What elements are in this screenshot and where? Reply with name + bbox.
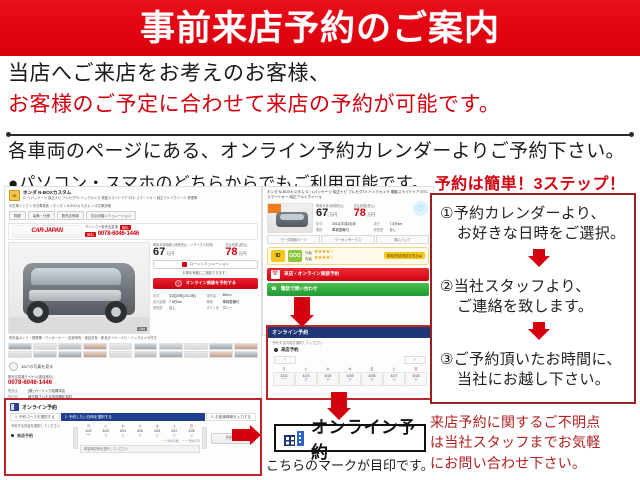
sp-spec-key-3: 修復歴 (374, 227, 388, 232)
calendar-icon: 📅 (271, 270, 280, 279)
spec-key-1: 排気量 (207, 293, 221, 298)
video-camera-icon (175, 280, 182, 287)
step-3-line-2: 当社にお越し下さい。 (457, 370, 622, 390)
car-window-shape (31, 268, 121, 285)
sp2-day-cell-1[interactable]: 4/23 ○ (295, 372, 317, 386)
cal-slot-4[interactable]: ○ (149, 434, 166, 439)
pc-contact-tel[interactable]: 0078-6046-1446 (8, 380, 258, 386)
pc-tel-label: ダイレクト販売店直通 (85, 225, 118, 230)
sp-tab-0[interactable]: データ詳細/パーツ (267, 235, 320, 244)
sp2-mark-6: ○ (406, 378, 426, 384)
sp2-mark-2: ○ (318, 378, 338, 384)
sp2-day-cell-5[interactable]: 4/27 ○ (383, 372, 405, 386)
spec-val-1: 660cc (223, 293, 259, 298)
pc-tel-free-badge: 無料 (85, 232, 96, 237)
step-2-line-2: ご連絡を致します。 (457, 297, 593, 317)
sp-visit-online-reserve-label: 来店・オンライン商談予約 (284, 271, 339, 277)
thumbnail[interactable] (83, 351, 107, 358)
header-banner: 事前来店予約のご案内 (0, 0, 640, 56)
arrow-head (528, 329, 550, 340)
arrow-right-to-mark (232, 425, 261, 445)
dealer-logo: CAR-JAPAN (12, 225, 82, 238)
cal-dow-2: 水 (114, 424, 131, 428)
step-arrow-2 (528, 322, 550, 340)
wizard-step-strip: 1. 予約コースを選択する 2. 予約したい日時を選択する 3. お客様情報を入… (10, 413, 256, 421)
thumbnail[interactable] (209, 343, 233, 350)
arrow-head (528, 256, 550, 267)
cal-dow-0: 月 (80, 424, 97, 428)
sp-price-total-unit: 万円 (367, 212, 375, 217)
car-grille-shape (29, 290, 121, 301)
cal-slot-0[interactable]: ー (80, 434, 97, 439)
sp-car-window-shape (280, 214, 304, 220)
step-1: ①予約カレンダーより、 お好きな日時をご選択。 (440, 204, 625, 245)
rate-in-stars: ★★★★☆ (314, 256, 334, 261)
sp-tab-1[interactable]: クーポン/サービス (321, 235, 374, 244)
arrow-stem (331, 392, 347, 408)
spec-val-2: 7.8万km (169, 299, 205, 304)
sp2-mark-0: ー (274, 378, 294, 384)
step-3-line-1: ③ご予約頂いたお時間に、 (440, 351, 622, 368)
divider-dot-right (629, 132, 634, 137)
sp-spec-key-0: 年式 (316, 221, 330, 226)
sp-car-photo[interactable] (267, 203, 313, 233)
thumbnail[interactable] (58, 351, 82, 358)
pc-detail-body: 1/36 車両本体価格 (消費税込・リサイクル料別) 67万円 支払総額 (税込… (5, 240, 261, 334)
step-1-line-2: お好きな日時をご選択。 (457, 224, 625, 244)
pc-price-vehicle-value: 67万円 (153, 247, 213, 258)
spec-val-5: グレー (223, 305, 259, 310)
pc-price-total-number: 78 (225, 246, 237, 258)
intro-line-1: 当店へご来店をお考えのお客様、 (8, 60, 632, 88)
pc-tab-1[interactable]: 装備・仕様 (28, 211, 55, 220)
sp-price-total-number: 78 (354, 207, 366, 219)
sp-rating-box: ID GOO 外装 ★★★★☆ 内装 ★★★★☆ 車両状態評価書を見る ▶ (267, 247, 429, 265)
cal-slot-5[interactable]: ○ (166, 434, 183, 439)
pc-photo-caption: 内外装キレイ・禁煙車・ワンオーナー・記録簿有・保証書有・新品タイヤ・ナビ・バック… (5, 334, 261, 341)
page-title: 事前来店予約のご案内 (140, 11, 500, 46)
step-3: ③ご予約頂いたお時間に、 当社にお越し下さい。 (440, 350, 622, 391)
cal-dow-3: 木 (131, 424, 148, 428)
wizard-body: 予約する内容を選択してください 来店予約 月 火 水 木 金 土 (6, 421, 260, 456)
thumbnail[interactable] (109, 343, 133, 350)
thumbnail[interactable] (209, 351, 233, 358)
sp2-dow-6: 日 (405, 366, 427, 371)
page-root: 事前来店予約のご案内 当店へご来店をお考えのお客様、 お客様のご予定に合わせて来… (0, 0, 640, 480)
sp-screenshot-car-detail: ホンダ N-BOXカスタム G・Lパッケージ 純正ナビ フルセグTV バックカメ… (262, 186, 434, 336)
sp2-calendar-nav[interactable]: ‹ › (268, 356, 432, 364)
arrow-head (290, 315, 314, 327)
loan-simulation-label: ローンシミュレーション (190, 262, 229, 267)
radio-dot-icon (274, 348, 278, 352)
sp-price-vehicle-number: 67 (316, 207, 328, 219)
wizard-calendar: 月 火 水 木 金 土 日 4/22 4/23 4/24 4/25 4/26 4… (73, 424, 207, 453)
sp2-mark-1: ○ (296, 378, 316, 384)
car-wheel-front (27, 301, 49, 323)
thumbnail[interactable] (33, 351, 57, 358)
pc-breadcrumb: 中古車トップ > 中古車検索 > ホンダ > N-BOXカスタム > 中古車詳細 (5, 203, 261, 210)
pc-screenshot-car-detail: ID ホンダ N-BOXカスタム G・Lパッケージ 純正ナビ フルセグTV バッ… (4, 186, 262, 404)
pc-thumbnail-strip[interactable] (5, 341, 261, 361)
intro-line-3: 各車両のページにある、オンライン予約カレンダーよりご予約下さい。 (8, 140, 632, 165)
sp2-day-cell-0[interactable]: 4/22 ー (273, 372, 295, 386)
sp-detail-body: ホンダ N-BOXカスタム G・Lパッケージ 純正ナビ フルセグTV バックカメ… (263, 187, 433, 299)
wizard-radio-dot[interactable] (11, 434, 14, 437)
contact-key-0: 販売店 (8, 388, 26, 393)
phone-icon: ☎ (271, 286, 277, 292)
pc-price-vehicle-number: 67 (153, 246, 165, 258)
steps-tagline: 予約は簡単！3ステップ！ (435, 170, 626, 194)
loan-simulation-button[interactable]: ローンシミュレーション (153, 260, 258, 269)
pc-price-column: 車両本体価格 (消費税込・リサイクル料別) 67万円 支払総額 (税込) 78万… (153, 242, 258, 334)
sp2-mark-4: ○ (362, 378, 382, 384)
sp2-day-cell-4[interactable]: 4/26 ○ (361, 372, 383, 386)
favorite-heart-icon[interactable]: ♡ (413, 201, 428, 216)
spec-key-0: 年式 (153, 293, 167, 298)
step-2: ②当社スタッフより、 ご連絡を致します。 (440, 277, 593, 318)
wizard-course-column: 予約する内容を選択してください 来店予約 (11, 424, 69, 453)
sp-price-vehicle-unit: 万円 (329, 212, 337, 217)
online-consult-label: オンライン商談を予約する (186, 280, 236, 286)
sp-spec-val-2: 車検整備付 (332, 227, 372, 232)
sp2-prev-button[interactable]: ‹ (274, 356, 296, 364)
intro-block: 当店へご来店をお考えのお客様、 お客様のご予定に合わせて来店の予約が可能です。 (8, 60, 632, 120)
closing-line-1: 来店予約に関するご不明点 (430, 412, 640, 432)
time-slot-select[interactable]: 希望時間帯を選択してください (80, 445, 200, 453)
pc-screenshot-reservation-wizard: オンライン予約 1. 予約コースを選択する 2. 予約したい日時を選択する 3.… (4, 398, 262, 476)
sp2-dow-2: 水 (317, 366, 339, 371)
sp-price-vehicle-value: 67万円 (316, 208, 344, 219)
thumbnail[interactable] (134, 343, 158, 350)
step-1-line-1: ①予約カレンダーより、 (440, 205, 606, 222)
closing-line-2: は当社スタッフまでお気軽 (430, 432, 640, 452)
step-arrow-1 (528, 249, 550, 267)
sp2-day-cell-2[interactable]: 4/24 ○ (317, 372, 339, 386)
sp-listing-title: ホンダ N-BOXカスタム G・Lパッケージ 純正ナビ フルセグTV バックカメ… (267, 190, 429, 201)
wizard-step-1[interactable]: 1. 予約コースを選択する (10, 413, 60, 421)
wizard-radio-label: 来店予約 (17, 433, 33, 439)
pc-price-vehicle-unit: 万円 (166, 251, 174, 256)
pc-listing-subtitle: G・Lパッケージ 純正ナビ フルセグTV バックカメラ 電動スライドドア ETC… (23, 196, 197, 201)
pc-tab-2[interactable]: 販売店情報 (57, 211, 84, 220)
wizard-step-2[interactable]: 2. 予約したい日時を選択する (61, 413, 205, 421)
sp2-radio-label: 来店予約 (281, 347, 299, 353)
sp2-dow-4: 金 (361, 366, 383, 371)
closing-line-3: にお問い合わせ下さい。 (430, 453, 640, 473)
thumbnail[interactable] (159, 343, 183, 350)
sp-price-total: 支払総額(税込) 78万円 (354, 203, 375, 219)
cal-dow-6: 日 (183, 424, 200, 428)
arrow-stem (533, 322, 545, 329)
cal-dow-4: 金 (149, 424, 166, 428)
sp2-course-radio[interactable]: 来店予約 (268, 346, 432, 356)
goo-badge-icon: GOO (288, 250, 302, 262)
cal-slot-1[interactable]: ○ (97, 434, 114, 439)
thumbnail[interactable] (8, 343, 32, 350)
sp-tab-strip[interactable]: データ詳細/パーツ クーポン/サービス 購入パック (267, 235, 429, 244)
calendar-legend: ○ = 予約可能 ー = 予約不可 (80, 439, 200, 443)
pc-price-total-unit: 万円 (238, 251, 246, 256)
spec-key-3: 車検 (207, 299, 221, 304)
pc-tab-0[interactable]: 概要 (9, 211, 26, 220)
pc-price-total: 支払総額 (税込) 78万円 (225, 242, 247, 258)
spec-key-5: ボディ色 (207, 305, 221, 310)
cal-dow-5: 土 (166, 424, 183, 428)
car-photo[interactable]: 1/36 (8, 242, 150, 334)
arrow-down-to-calendar (290, 297, 314, 327)
thumbnail[interactable] (159, 351, 183, 358)
thumbnail[interactable] (33, 343, 57, 350)
cal-slot-3[interactable]: ○ (131, 434, 148, 439)
thumbnail[interactable] (184, 351, 208, 358)
pc-listing-header: ID ホンダ N-BOXカスタム G・Lパッケージ 純正ナビ フルセグTV バッ… (5, 187, 261, 203)
car-wheel-rear (105, 301, 127, 323)
three-steps-box: ①予約カレンダーより、 お好きな日時をご選択。 ②当社スタッフより、 ご連絡を致… (430, 193, 636, 404)
pc-tel-pill: 無料 (120, 225, 131, 230)
sp2-mark-5: ○ (384, 378, 404, 384)
sp2-day-cell-6[interactable]: 4/28 ○ (405, 372, 427, 386)
pc-price-total-value: 78万円 (225, 247, 247, 258)
arrow-stem (533, 249, 545, 256)
spec-key-4: 修復歴 (153, 305, 167, 310)
online-reservation-mark-note: こちらのマークが目印です。 (266, 455, 434, 474)
sp-rating-stars: 外装 ★★★★☆ 内装 ★★★★☆ (305, 250, 334, 261)
spec-val-4: なし (169, 305, 205, 310)
wizard-title: オンライン予約 (22, 404, 57, 411)
calendar-next-button[interactable] (202, 427, 207, 449)
wizard-left-note: 予約する内容を選択してください (11, 424, 69, 429)
sp-phone-label: 電話で問い合わせ (281, 286, 318, 292)
contact-val-0: (株) カーリンク岩槻本店 (28, 388, 258, 393)
section-divider (6, 131, 634, 139)
sp2-mark-3: ○ (340, 378, 360, 384)
thumbnail[interactable] (109, 351, 133, 358)
arrow-head (250, 425, 261, 445)
sp-spec-val-0: 2013(平成25)年 (332, 221, 372, 226)
rotate-360-icon (9, 362, 18, 371)
sp2-day-cell-3[interactable]: 4/25 ○ (339, 372, 361, 386)
online-consult-button[interactable]: オンライン商談を予約する (153, 278, 258, 289)
view-360-button[interactable]: 360°の写真を見る (5, 360, 261, 373)
sp-tab-2[interactable]: 購入パック (376, 235, 429, 244)
spec-val-0: 平成25年(2013年) (169, 293, 205, 298)
thumbnail[interactable] (58, 343, 82, 350)
arrow-stem (294, 297, 310, 315)
spec-key-2: 走行距離 (153, 299, 167, 304)
arrow-stem (232, 429, 250, 441)
wizard-step-3[interactable]: 3. お客様情報を入力する (206, 413, 256, 421)
online-reserve-icon (10, 403, 19, 411)
cal-slot-2[interactable]: ○ (114, 434, 131, 439)
cal-dow-1: 火 (97, 424, 114, 428)
pc-tel-block: ダイレクト販売店直通 無料 無料 0078-6046-1446 (85, 225, 139, 237)
calendar-prev-button[interactable] (73, 427, 78, 449)
pc-tab-3[interactable]: 支払総額シミュレーション (86, 211, 137, 220)
thumbnail[interactable] (8, 351, 32, 358)
sp2-subtitle: 予約する内容を選択してください (268, 338, 432, 346)
sp-spec-key-2: 車検 (316, 227, 330, 232)
building-right-shape (297, 431, 304, 446)
sp-summary-card: 車両本体(消費税込) 67万円 支払総額(税込) 78万円 年式 2013(平成… (267, 203, 429, 233)
thumbnail[interactable] (83, 343, 107, 350)
pc-spec-grid: 年式 平成25年(2013年) 排気量 660cc 走行距離 7.8万km 車検… (153, 293, 258, 310)
sp2-next-button[interactable]: › (404, 356, 426, 364)
spec-val-3: 車検整備付 (223, 299, 259, 304)
id-badge-icon: ID (271, 250, 285, 262)
divider-bar (10, 134, 630, 136)
photo-counter: 1/36 (137, 327, 147, 331)
sp-price-vehicle: 車両本体(消費税込) 67万円 (316, 203, 344, 219)
sp2-dow-5: 土 (383, 366, 405, 371)
id-badge-icon: ID (9, 190, 20, 201)
online-reservation-mark-box: オンライン予約 (274, 424, 426, 452)
calendar-grid: 月 火 水 木 金 土 日 4/22 4/23 4/24 4/25 4/26 4… (80, 424, 200, 439)
pc-tab-strip[interactable]: 概要 装備・仕様 販売店情報 支払総額シミュレーション (5, 210, 261, 222)
thumbnail[interactable] (134, 351, 158, 358)
rate-in-label: 内装 (305, 256, 312, 261)
sp2-dow-3: 木 (339, 366, 361, 371)
thumbnail[interactable] (184, 343, 208, 350)
closing-note: 来店予約に関するご不明点 は当社スタッフまでお気軽 にお問い合わせ下さい。 (430, 412, 640, 473)
sp-spec-key-1: 走行 (374, 221, 388, 226)
cal-slot-6[interactable]: ○ (183, 434, 200, 439)
wizard-header: オンライン予約 (6, 400, 260, 413)
view-360-label: 360°の写真を見る (21, 364, 53, 370)
step-2-line-1: ②当社スタッフより、 (440, 278, 591, 295)
rate-out-label: 外装 (305, 250, 312, 255)
sp-spec-val-1: 7.8万km (390, 221, 430, 226)
sp-phone-button[interactable]: ☎ 電話で問い合わせ (267, 283, 429, 296)
thumbnail[interactable] (234, 343, 258, 350)
sp-visit-online-reserve-button[interactable]: 📅 来店・オンライン商談予約 (267, 268, 429, 281)
sp-spec-val-3: なし (390, 227, 430, 232)
sp2-calendar-grid: 月 火 水 木 金 土 日 4/22 ー 4/23 ○ 4/24 ○ 4/25 … (268, 364, 432, 386)
pc-price-vehicle: 車両本体価格 (消費税込・リサイクル料別) 67万円 (153, 242, 213, 258)
sp2-dow-0: 月 (273, 366, 295, 371)
online-reservation-building-icon (284, 430, 304, 446)
calculator-icon (182, 262, 187, 267)
thumbnail[interactable] (234, 351, 258, 358)
rating-detail-button[interactable]: 車両状態評価書を見る ▶ (384, 252, 425, 259)
intro-line-2: お客様のご予定に合わせて来店の予約が可能です。 (8, 91, 632, 119)
sp-screenshot-reservation-panel: オンライン予約 予約する内容を選択してください 来店予約 ‹ › 月 火 水 木… (266, 325, 434, 400)
sp2-panel-title: オンライン予約 (268, 327, 432, 338)
building-left-shape (284, 435, 295, 446)
online-consult-note: お車を気軽にご相談できます！ (153, 271, 258, 276)
sp2-dow-1: 火 (295, 366, 317, 371)
sp-price-total-value: 78万円 (354, 208, 375, 219)
pc-tel-number[interactable]: 0078-6046-1446 (98, 231, 139, 237)
pc-dealer-banner: CAR-JAPAN ダイレクト販売店直通 無料 無料 0078-6046-144… (8, 223, 258, 240)
